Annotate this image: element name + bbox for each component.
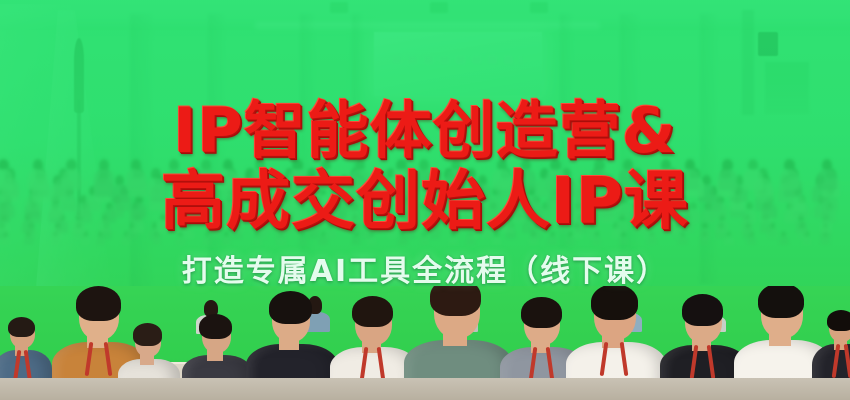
attendee-hair [521,297,561,328]
green-color-overlay [0,0,850,318]
attendee-hair [269,291,312,324]
event-promo-banner: IP智能体创造营& 高成交创始人IP课 打造专属AI工具全流程（线下课） [0,0,850,400]
attendee-hair [430,286,481,316]
attendee-hair [8,317,35,338]
attendee-hair [827,310,850,332]
attendee-hair [76,286,121,321]
attendee-hair [682,294,723,326]
attendee-hair [199,314,232,339]
attendee-hair [352,296,393,328]
hall-floor [0,378,850,400]
foreground-audience-row [0,286,850,400]
attendee-hair [133,323,162,345]
attendee-hair [591,286,638,320]
attendee-hair [758,286,804,318]
